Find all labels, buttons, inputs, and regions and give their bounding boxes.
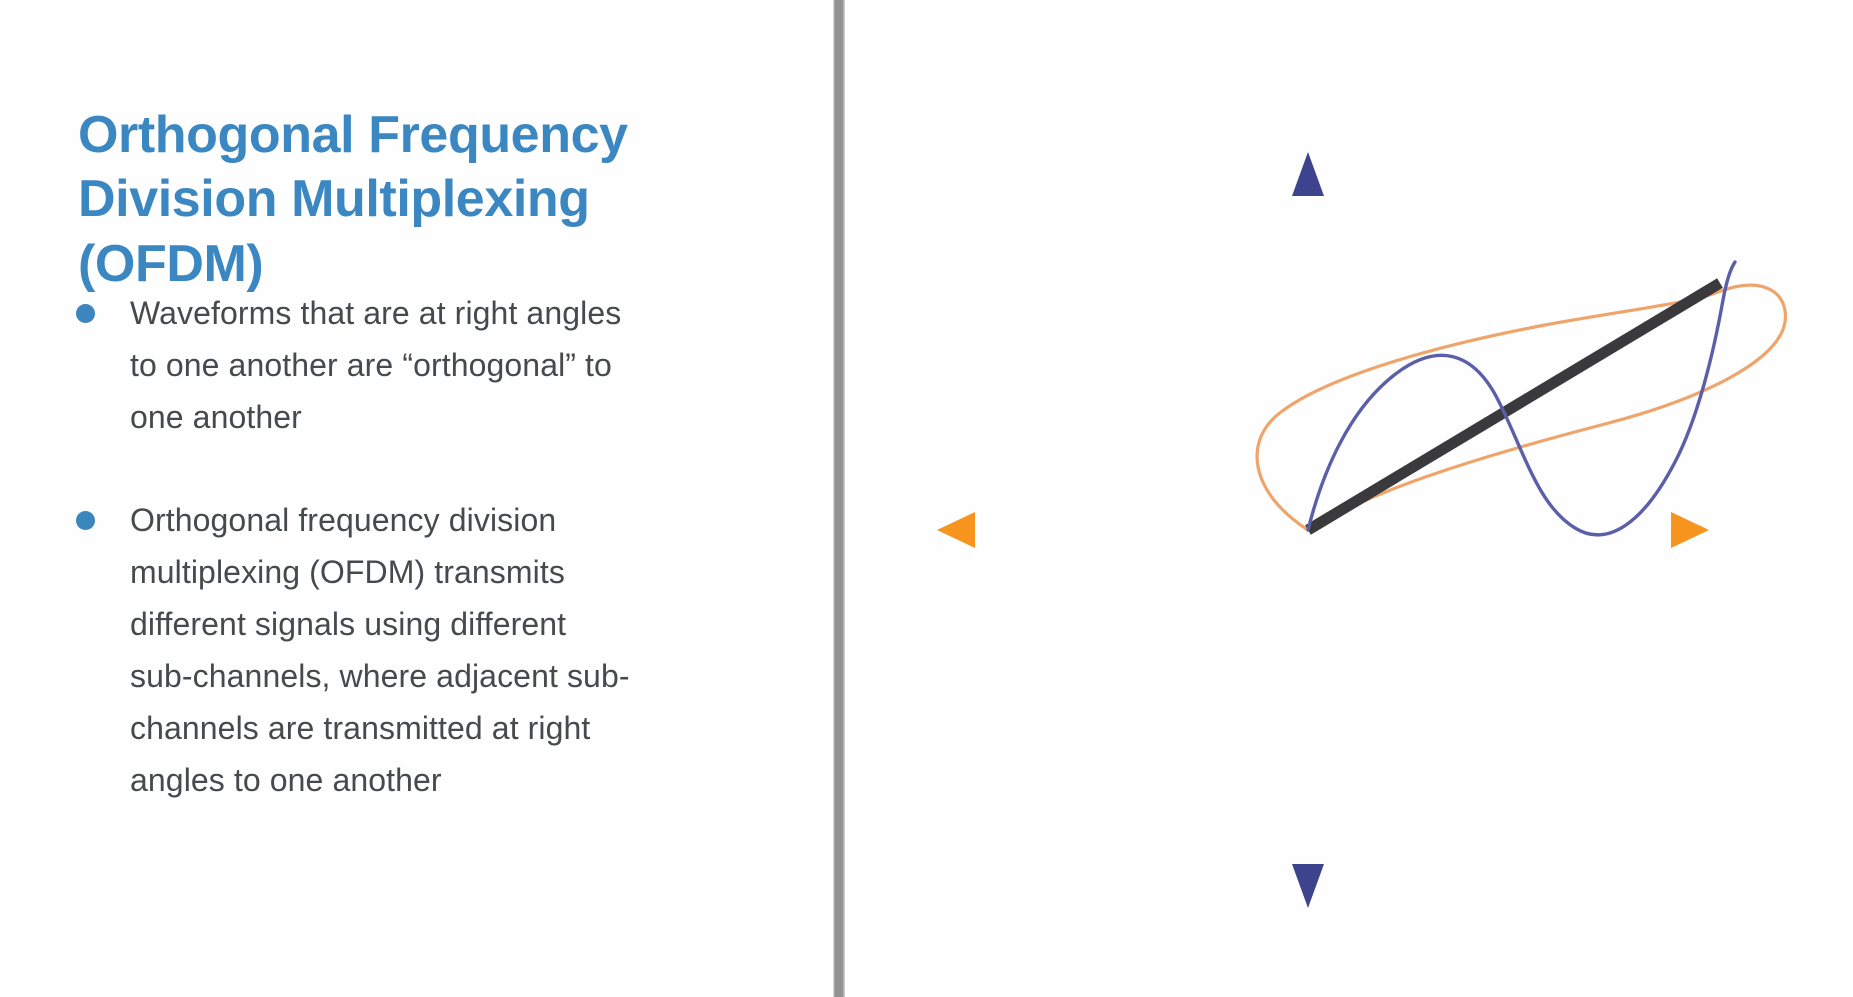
presentation-slide: Orthogonal Frequency Division Multiplexi… (0, 0, 1853, 997)
page-title: Orthogonal Frequency Division Multiplexi… (78, 103, 718, 296)
bullet-list: Waveforms that are at right angles to on… (72, 288, 772, 858)
bullet-dot-icon (72, 288, 130, 323)
column-divider (833, 0, 845, 997)
title-line-3: (OFDM) (78, 232, 718, 296)
title-line-1: Orthogonal Frequency (78, 103, 718, 167)
bullet-text: Waveforms that are at right angles to on… (130, 288, 630, 443)
orthogonal-waveforms-diagram (845, 0, 1853, 997)
diagram-panel (845, 0, 1853, 997)
list-item: Waveforms that are at right angles to on… (72, 288, 772, 443)
slide-text-column: Orthogonal Frequency Division Multiplexi… (0, 0, 838, 997)
bullet-dot-icon (72, 495, 130, 530)
list-item: Orthogonal frequency division multiplexi… (72, 495, 772, 806)
bullet-text: Orthogonal frequency division multiplexi… (130, 495, 630, 806)
title-line-2: Division Multiplexing (78, 167, 718, 231)
